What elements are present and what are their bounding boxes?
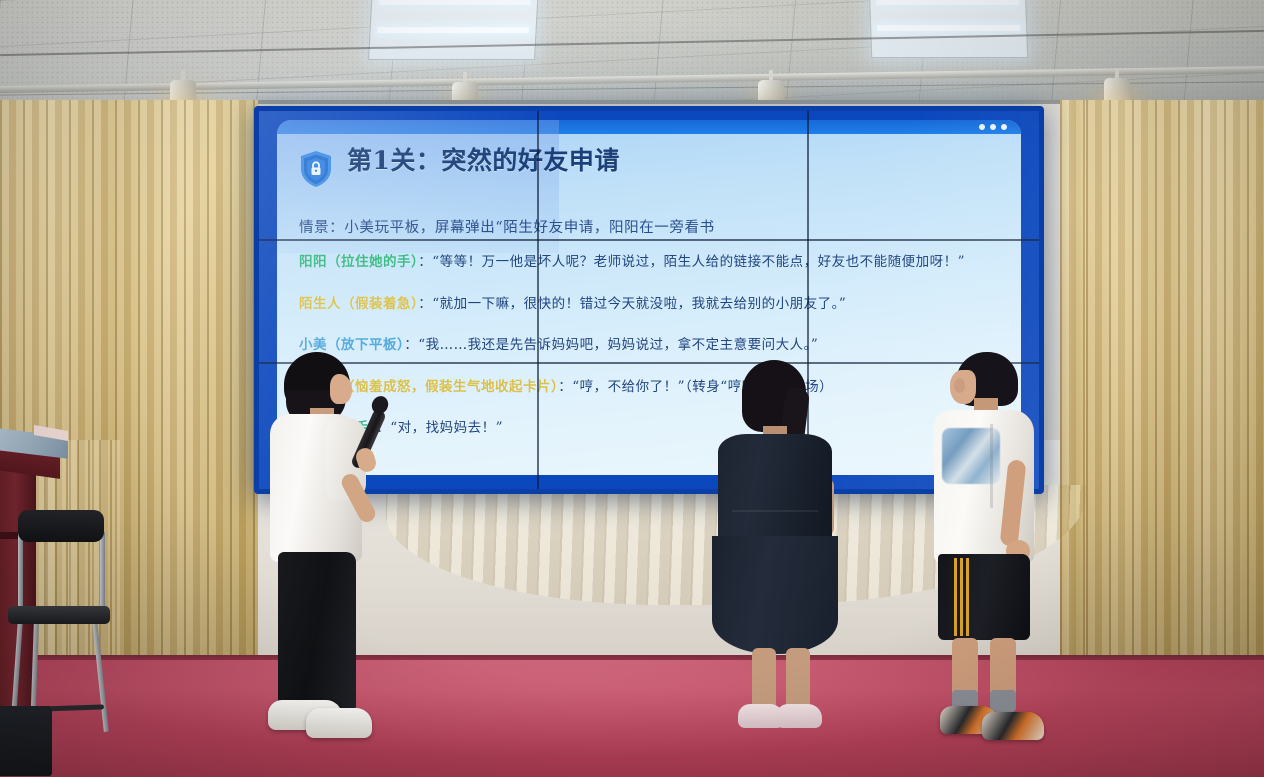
slide-title: 第1关：突然的好友申请	[347, 146, 620, 176]
student-boy-white-shirt	[928, 352, 1040, 744]
dialogue-text: ：“我……我还是先告诉妈妈吧，妈妈说过，拿不定主意要问大人。”	[404, 337, 818, 353]
window-dot-1	[979, 124, 985, 130]
shorts-stripe-3	[966, 558, 969, 636]
video-wall-bezel-horizontal-2	[259, 362, 1039, 364]
dialogue-text: ：“等等！万一他是坏人呢？老师说过，陌生人给的链接不能点，好友也不能随便加呀！”	[418, 254, 965, 270]
shoe-right	[776, 704, 822, 728]
dialogue-line: 陌生人（假装着急）：“就加一下嘛，很快的！错过今天就没啦，我就去给别的小朋友了。…	[299, 298, 1011, 312]
dialogue-line: 阳阳（拍手）：“对，找妈妈去！”	[299, 422, 1011, 436]
dialogue-text: ：“对，找妈妈去！”	[376, 420, 503, 436]
chair-backrest	[18, 510, 104, 542]
ceiling-light-panel-right	[869, 0, 1028, 58]
dialogue-speaker: 小美（放下平板）	[299, 337, 404, 353]
video-wall-bezel-vertical-1	[537, 111, 539, 489]
slide-title-row: 第1关：突然的好友申请	[299, 146, 1001, 188]
shoe-right	[982, 712, 1044, 740]
window-dot-2	[990, 124, 996, 130]
dress-yoke-seam	[732, 510, 818, 512]
shield-lock-icon	[299, 150, 333, 188]
leg-left	[752, 648, 776, 710]
auditorium-scene: 第1关：突然的好友申请 情景：小美玩平板，屏幕弹出“陌生好友申请，阳阳在一旁看书…	[0, 0, 1264, 777]
video-wall-bezel-horizontal-1	[259, 239, 1039, 241]
dialogue-text: ：“就加一下嘛，很快的！错过今天就没啦，我就去给别的小朋友了。”	[418, 296, 846, 312]
shoe-right	[306, 708, 372, 738]
chair-back-post-left	[18, 532, 23, 612]
slide-dialogue-list: 阳阳（拉住她的手）：“等等！万一他是坏人呢？老师说过，陌生人给的链接不能点，好友…	[299, 256, 1011, 464]
presentation-slide[interactable]: 第1关：突然的好友申请 情景：小美玩平板，屏幕弹出“陌生好友申请，阳阳在一旁看书…	[277, 120, 1021, 475]
dialogue-line: 阳阳（拉住她的手）：“等等！万一他是坏人呢？老师说过，陌生人给的链接不能点，好友…	[299, 256, 1011, 270]
window-dots	[979, 124, 1007, 130]
student-girl-navy-dress	[716, 360, 834, 740]
ceiling-light-panel-left	[368, 0, 539, 60]
leg-right	[786, 648, 810, 710]
ear	[954, 378, 965, 393]
stage-curtain-right	[1086, 100, 1264, 700]
window-dot-3	[1001, 124, 1007, 130]
presenter-girl-with-microphone	[262, 352, 370, 744]
leg-left	[952, 638, 978, 698]
leg-right	[990, 638, 1016, 698]
dress-skirt	[712, 536, 838, 654]
dialogue-speaker: 陌生人（假装着急）	[299, 296, 418, 312]
slide-header-bar	[277, 120, 1021, 134]
shorts-stripe-1	[954, 558, 957, 636]
chair-seat	[8, 606, 110, 624]
shorts-stripe-2	[960, 558, 963, 636]
chair-leg-2	[92, 620, 109, 732]
sock-right	[990, 690, 1016, 712]
dialogue-speaker: 阳阳（拉住她的手）	[299, 254, 418, 270]
black-shorts	[938, 554, 1030, 640]
shirt-fold	[990, 424, 993, 508]
dialogue-line: 小美（放下平板）：“我……我还是先告诉妈妈吧，妈妈说过，拿不定主意要问大人。”	[299, 339, 1011, 353]
dialogue-line: 陌生人（恼羞成怒，假装生气地收起卡片）：“哼，不给你了！”（转身“哼哼呼呼”下场…	[299, 381, 1011, 395]
black-trousers	[278, 552, 356, 710]
slide-scene-label: 情景：小美玩平板，屏幕弹出“陌生好友申请，阳阳在一旁看书	[299, 216, 1005, 237]
floor-light-reflection	[0, 660, 1264, 777]
chair-back-post-right	[100, 532, 105, 612]
face	[330, 374, 352, 404]
equipment-box	[0, 706, 52, 776]
